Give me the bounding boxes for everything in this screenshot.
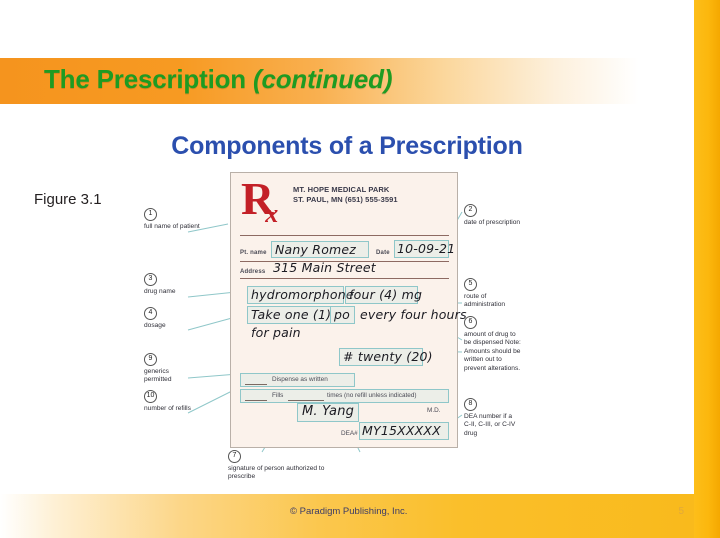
address-label: Address: [240, 269, 265, 275]
date-label: Date: [376, 250, 390, 256]
callout-9: 9 generics permitted: [144, 353, 196, 385]
callout-7: 7 signature of person authorized to pres…: [228, 450, 338, 482]
dea-label: DEA#: [341, 430, 358, 437]
patient-name-value: Nany Romez: [275, 242, 356, 257]
callout-8: 8 DEA number if a C-II, C-III, or C-IV d…: [464, 398, 520, 438]
patient-name-label: Pt. name: [240, 250, 267, 256]
clinic-header: MT. HOPE MEDICAL PARK ST. PAUL, MN (651)…: [293, 185, 398, 205]
callout-6-number: 6: [464, 316, 477, 329]
signature-value: M. Yang: [302, 404, 354, 419]
callout-3: 3 drug name: [144, 273, 230, 296]
callout-2-text: date of prescription: [464, 219, 550, 227]
callout-7-number: 7: [228, 450, 241, 463]
right-accent-bar: [694, 0, 720, 538]
callout-3-number: 3: [144, 273, 157, 286]
callout-5: 5 route of administration: [464, 278, 520, 310]
rx-symbol-tail: x: [265, 199, 278, 228]
callout-2: 2 date of prescription: [464, 204, 550, 227]
callout-1-text: full name of patient: [144, 223, 230, 231]
callout-4-text: dosage: [144, 322, 230, 330]
footer-copyright: © Paradigm Publishing, Inc.: [290, 506, 407, 517]
refills-fills-label: Fills: [272, 392, 283, 399]
callout-3-text: drug name: [144, 288, 230, 296]
callout-4-number: 4: [144, 307, 157, 320]
slide-canvas: The Prescription (continued) Components …: [0, 0, 720, 538]
divider-top: [240, 235, 449, 236]
date-value: 10-09-21: [397, 241, 455, 256]
callout-1-number: 1: [144, 208, 157, 221]
credential-label: M.D.: [427, 407, 441, 414]
callout-4: 4 dosage: [144, 307, 230, 330]
clinic-name: MT. HOPE MEDICAL PARK: [293, 185, 398, 195]
dispense-as-written-label: Dispense as written: [272, 376, 328, 383]
section-heading: Components of a Prescription: [0, 132, 694, 161]
callout-8-text: DEA number if a C-II, C-III, or C-IV dru…: [464, 413, 520, 438]
address-value: 315 Main Street: [273, 260, 376, 275]
page-title: The Prescription (continued): [44, 64, 392, 95]
refills-times-label: times (no refill unless indicated): [327, 392, 417, 399]
divider-address: [240, 278, 449, 279]
callout-8-number: 8: [464, 398, 477, 411]
figure-label: Figure 3.1: [34, 191, 102, 208]
dispense-blank-line: [245, 384, 267, 385]
sig-frequency-value: every four hours: [360, 307, 467, 322]
refills-blank-line-2: [288, 400, 324, 401]
callout-10-text: number of refills: [144, 405, 196, 413]
callout-7-text: signature of person authorized to prescr…: [228, 465, 338, 482]
clinic-address: ST. PAUL, MN (651) 555-3591: [293, 195, 398, 205]
sig-indication-value: for pain: [251, 325, 301, 340]
callout-9-number: 9: [144, 353, 157, 366]
sig-route-value: po: [334, 307, 350, 322]
callout-9-text: generics permitted: [144, 368, 196, 385]
callout-6-text: amount of drug to be dispensed Note: Amo…: [464, 331, 522, 373]
page-title-main: The Prescription: [44, 64, 253, 94]
callout-1: 1 full name of patient: [144, 208, 230, 231]
page-number: 5: [678, 506, 684, 517]
drug-name-value: hydromorphone: [251, 287, 354, 302]
callout-5-text: route of administration: [464, 293, 520, 310]
page-title-continued: (continued): [253, 64, 392, 94]
prescription-form: Rx MT. HOPE MEDICAL PARK ST. PAUL, MN (6…: [230, 172, 458, 448]
quantity-value: # twenty (20): [343, 349, 433, 364]
rx-symbol-icon: Rx: [241, 177, 287, 228]
callout-6: 6 amount of drug to be dispensed Note: A…: [464, 316, 522, 373]
callout-5-number: 5: [464, 278, 477, 291]
callout-10: 10 number of refills: [144, 390, 196, 413]
sig-dose-value: Take one (1): [251, 307, 331, 322]
drug-strength-value: four (4) mg: [349, 287, 422, 302]
callout-2-number: 2: [464, 204, 477, 217]
dea-value: MY15XXXXX: [362, 423, 441, 438]
callout-10-number: 10: [144, 390, 157, 403]
refills-blank-line-1: [245, 400, 267, 401]
